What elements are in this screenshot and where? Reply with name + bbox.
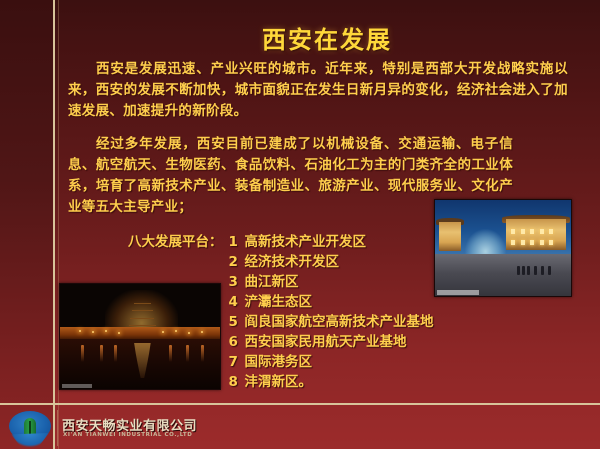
list-item-label: 高新技术产业开发区 xyxy=(245,232,367,252)
light-reflection xyxy=(100,345,103,362)
list-item-number: 8 xyxy=(229,372,245,392)
list-item-label: 浐灞生态区 xyxy=(245,292,313,312)
visitor-silhouette xyxy=(522,266,525,275)
photo-watermark xyxy=(62,384,92,388)
platforms-label: 八大发展平台： xyxy=(128,232,229,252)
hall-light xyxy=(549,240,553,245)
left-accent-panel xyxy=(0,0,53,449)
list-item-number: 5 xyxy=(229,312,245,332)
list-item: 6 西安国家民用航天产业基地 xyxy=(229,332,434,352)
list-item: 8 沣渭新区。 xyxy=(229,372,434,392)
list-item-number: 6 xyxy=(229,332,245,352)
pagoda-tier xyxy=(134,303,152,304)
list-item-label: 经济技术开发区 xyxy=(245,252,340,272)
hall-light xyxy=(530,240,534,245)
hall-light xyxy=(521,240,525,245)
list-item-number: 3 xyxy=(229,272,245,292)
footer-separator xyxy=(57,410,58,446)
list-item-number: 2 xyxy=(229,252,245,272)
paragraph-1: 西安是发展迅速、产业兴旺的城市。近年来，特别是西部大开发战略实施以来，西安的发展… xyxy=(68,59,568,122)
photo-big-wild-goose-pagoda-night xyxy=(59,283,221,390)
fountain xyxy=(465,229,506,254)
logo-swoosh-icon xyxy=(11,433,49,447)
photo-content xyxy=(60,284,220,389)
list-item-label: 曲江新区 xyxy=(245,272,299,292)
light-reflection xyxy=(114,345,117,362)
list-item-number: 4 xyxy=(229,292,245,312)
hall-light xyxy=(530,229,534,234)
list-item-label: 阎良国家航空高新技术产业基地 xyxy=(245,312,434,332)
logo-gate-slit xyxy=(29,421,31,435)
list-item: 3 曲江新区 xyxy=(229,272,434,292)
list-item: 5 阎良国家航空高新技术产业基地 xyxy=(229,312,434,332)
hall-light xyxy=(540,229,544,234)
list-item-number: 7 xyxy=(229,352,245,372)
platforms-list: 1 高新技术产业开发区 2 经济技术开发区 3 曲江新区 4 浐灞生态区 5 阎… xyxy=(229,232,434,392)
list-item: 7 国际港务区 xyxy=(229,352,434,372)
visitor-silhouette xyxy=(541,266,544,275)
visitor-silhouette xyxy=(548,266,551,275)
list-item: 1 高新技术产业开发区 xyxy=(229,232,434,252)
list-item-label: 沣渭新区。 xyxy=(245,372,313,392)
hall-light xyxy=(521,229,525,234)
hall-light xyxy=(511,240,515,245)
pagoda-tier xyxy=(130,318,154,319)
pagoda-tier xyxy=(132,310,153,311)
company-logo xyxy=(7,409,53,447)
list-item-number: 1 xyxy=(229,232,245,252)
list-item-label: 国际港务区 xyxy=(245,352,313,372)
list-item: 4 浐灞生态区 xyxy=(229,292,434,312)
light-reflection xyxy=(169,345,172,362)
footer-bar: 西安天畅实业有限公司 XI'AN TIANWEI INDUSTRIAL CO.,… xyxy=(0,405,600,449)
light-reflection xyxy=(81,345,84,362)
photo-watermark xyxy=(437,290,479,295)
light-reflection xyxy=(186,345,189,362)
page-title: 西安在发展 xyxy=(60,20,594,55)
side-tower xyxy=(439,222,461,251)
hall-light xyxy=(511,229,515,234)
left-vertical-rule xyxy=(53,0,55,449)
list-item-label: 西安国家民用航天产业基地 xyxy=(245,332,407,352)
hall-light xyxy=(549,229,553,234)
list-item: 2 经济技术开发区 xyxy=(229,252,434,272)
company-name-en: XI'AN TIANWEI INDUSTRIAL CO.,LTD xyxy=(63,432,192,438)
visitor-silhouette xyxy=(534,266,537,275)
pagoda-tier xyxy=(129,325,156,326)
visitor-silhouette xyxy=(517,266,520,275)
hall-light xyxy=(540,240,544,245)
photo-tang-paradise-night xyxy=(434,199,572,297)
photo-content xyxy=(435,200,571,296)
slide-canvas: 西安在发展 西安是发展迅速、产业兴旺的城市。近年来，特别是西部大开发战略实施以来… xyxy=(0,0,600,449)
light-reflection xyxy=(201,345,204,362)
